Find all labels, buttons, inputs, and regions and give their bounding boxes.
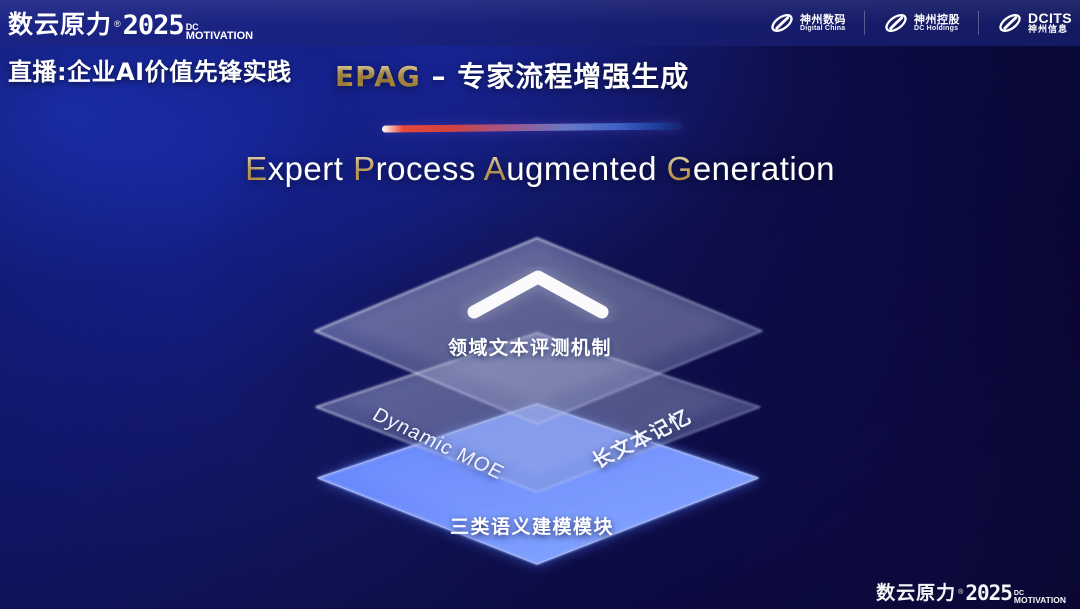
partner-name-en: Digital China [800, 25, 846, 32]
page-title: EPAG – 专家流程增强生成 [335, 55, 689, 95]
partner-name-cn: 神州信息 [1028, 26, 1072, 35]
live-stream-label: 直播:企业AI价值先锋实践 [8, 52, 292, 87]
subtitle-cap-e: E [245, 150, 268, 187]
event-logo-cn: 数云原力 [8, 5, 112, 41]
event-logo-dc: DC MOTIVATION [186, 23, 253, 41]
partner-name-dcits: DCITS [1028, 11, 1072, 25]
subtitle-cap-p: P [353, 150, 376, 187]
partner-divider [978, 11, 979, 35]
page-title-rest: – 专家流程增强生成 [421, 60, 690, 93]
partner-name-cn: 神州数码 [800, 14, 846, 25]
event-logo-dc-line2: MOTIVATION [186, 31, 253, 41]
partner-name-en: DC Holdings [914, 25, 960, 32]
watermark-logo-dc: DC MOTIVATION [1014, 591, 1066, 605]
subtitle-cap-g: G [667, 150, 693, 187]
watermark-logo: 数云原力 ® 2025 DC MOTIVATION [876, 578, 1066, 605]
partner-logo-digital-china: 神州数码 Digital China [769, 10, 846, 36]
page-title-accent: EPAG [335, 60, 421, 93]
slide-canvas: 领域文本评测机制 Dynamic MOE 长文本记忆 三类语义建模模块 EPAG… [0, 0, 1080, 609]
layer-label-top: 领域文本评测机制 [448, 333, 612, 360]
event-logo-year: 2025 [123, 10, 184, 41]
watermark-logo-year: 2025 [965, 581, 1012, 605]
layer-label-bottom: 三类语义建模模块 [450, 512, 614, 539]
subtitle-word-generation: eneration [693, 150, 835, 187]
subtitle-word-process: rocess [376, 150, 484, 187]
partner-logo-dc-holdings: 神州控股 DC Holdings [883, 10, 960, 36]
watermark-logo-dc-line2: MOTIVATION [1014, 597, 1066, 605]
subtitle-word-augmented: ugmented [506, 150, 666, 187]
swirl-logo-icon [769, 10, 795, 36]
partner-name-cn: 神州控股 [914, 14, 960, 25]
page-subtitle: Expert Process Augmented Generation [0, 150, 1080, 188]
watermark-logo-registered-icon: ® [958, 589, 963, 596]
watermark-logo-cn: 数云原力 [876, 578, 956, 605]
event-logo: 数云原力 ® 2025 DC MOTIVATION [8, 5, 253, 41]
swirl-logo-icon [883, 10, 909, 36]
partner-divider [864, 11, 865, 35]
swirl-logo-icon [997, 10, 1023, 36]
partner-logo-dcits: DCITS 神州信息 [997, 10, 1072, 36]
subtitle-word-expert: xpert [268, 150, 354, 187]
subtitle-cap-a: A [484, 150, 507, 187]
partner-logo-group: 神州数码 Digital China 神州控股 DC Holdings [769, 5, 1072, 41]
top-banner: 数云原力 ® 2025 DC MOTIVATION 神州数码 Digital C… [0, 0, 1080, 46]
event-logo-registered-icon: ® [114, 19, 121, 29]
